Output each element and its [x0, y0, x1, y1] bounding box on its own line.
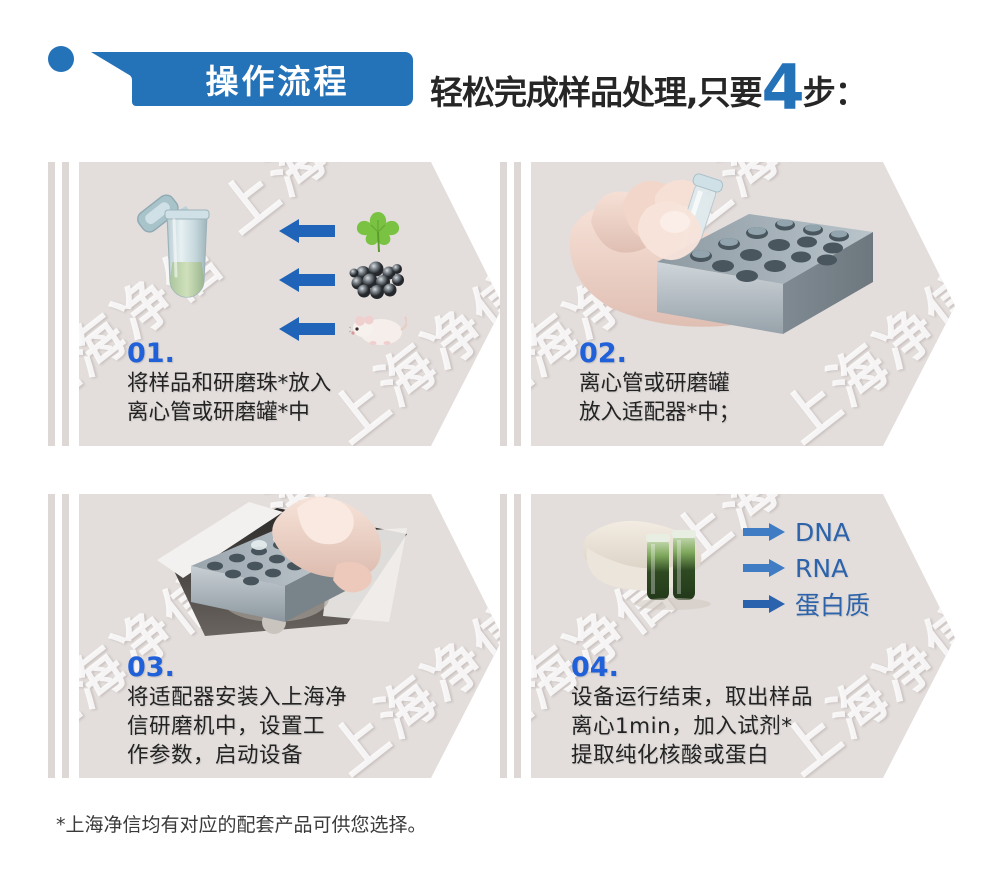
step-04-caption: 04. 设备运行结束，取出样品 离心1min，加入试剂* 提取纯化核酸或蛋白: [571, 654, 921, 770]
gloved-hand-holding-sample-tubes-photo: [583, 508, 743, 626]
step-03-media: [79, 494, 503, 674]
step-04-media: DNA RNA 蛋白质: [531, 494, 955, 674]
card-accent-bar: [500, 494, 507, 778]
steps-grid: 上海净信 上海净信 上海净信: [0, 158, 1000, 798]
headline-step-count: 4: [762, 57, 803, 119]
grinding-beads-icon: [349, 257, 407, 303]
sample-row-beads: [277, 257, 407, 303]
step-description: 将样品和研磨珠*放入 离心管或研磨罐*中: [127, 369, 457, 427]
card-accent-bar: [514, 494, 521, 778]
step-card-body: 上海净信 上海净信 上海净信: [79, 494, 503, 778]
arrow-right-icon: [743, 595, 785, 613]
step-card-03: 上海净信 上海净信 上海净信: [48, 490, 503, 782]
decorative-dot-icon: [48, 46, 74, 72]
banner-title: 操作流程: [88, 48, 413, 110]
step-card-body: 上海净信 上海净信 上海净信: [531, 494, 955, 778]
card-accent-bar: [48, 162, 55, 446]
card-accent-bar: [62, 162, 69, 446]
output-row-rna: RNA: [743, 550, 870, 586]
arrow-right-icon: [743, 559, 785, 577]
output-label: DNA: [795, 518, 850, 547]
infographic-page: 操作流程 轻松完成样品处理,只要 4 步： 上海净信 上海净信 上海净信: [0, 0, 1000, 875]
output-label: 蛋白质: [795, 586, 870, 622]
step-01-media: [79, 162, 503, 342]
centrifuge-tube-icon: [134, 184, 234, 324]
step-card-02: 上海净信 上海净信 上海净信: [500, 158, 955, 450]
arrow-right-icon: [743, 523, 785, 541]
step-card-01: 上海净信 上海净信 上海净信: [48, 158, 503, 450]
card-accent-bar: [62, 494, 69, 778]
card-accent-bar: [514, 162, 521, 446]
step-01-caption: 01. 将样品和研磨珠*放入 离心管或研磨罐*中: [127, 340, 457, 427]
step-number: 02.: [579, 340, 909, 368]
arrow-left-icon: [277, 267, 335, 293]
page-header: 操作流程 轻松完成样品处理,只要 4 步：: [0, 0, 1000, 140]
output-label: RNA: [795, 554, 848, 583]
step-card-body: 上海净信 上海净信 上海净信: [79, 162, 503, 446]
step-number: 04.: [571, 654, 921, 682]
step-02-media: [531, 162, 955, 342]
output-row-protein: 蛋白质: [743, 586, 870, 622]
headline-prefix: 轻松完成样品处理,只要: [430, 66, 762, 114]
hand-installing-adapter-in-grinder-photo: [157, 494, 417, 666]
leaf-icon: [349, 208, 407, 254]
card-accent-bar: [48, 494, 55, 778]
footnote: *上海净信均有对应的配套产品可供您选择。: [56, 810, 427, 837]
step-number: 01.: [127, 340, 457, 368]
step-description: 离心管或研磨罐 放入适配器*中；: [579, 369, 909, 427]
output-row-dna: DNA: [743, 514, 870, 550]
step-card-04: 上海净信 上海净信 上海净信: [500, 490, 955, 782]
step-card-body: 上海净信 上海净信 上海净信: [531, 162, 955, 446]
arrow-left-icon: [277, 316, 335, 342]
step-02-caption: 02. 离心管或研磨罐 放入适配器*中；: [579, 340, 909, 427]
step-03-caption: 03. 将适配器安装入上海净 信研磨机中，设置工 作参数，启动设备: [127, 654, 477, 770]
arrow-left-icon: [277, 218, 335, 244]
card-accent-bar: [500, 162, 507, 446]
section-banner: 操作流程: [88, 48, 413, 110]
step-04-output-list: DNA RNA 蛋白质: [743, 514, 870, 622]
sample-row-leaf: [277, 208, 407, 254]
headline-suffix: 步：: [803, 66, 867, 114]
step-description: 将适配器安装入上海净 信研磨机中，设置工 作参数，启动设备: [127, 683, 477, 770]
step-number: 03.: [127, 654, 477, 682]
step-description: 设备运行结束，取出样品 离心1min，加入试剂* 提取纯化核酸或蛋白: [571, 683, 921, 770]
hand-loading-tube-into-adapter-photo: [551, 170, 881, 348]
headline: 轻松完成样品处理,只要 4 步：: [430, 52, 867, 114]
